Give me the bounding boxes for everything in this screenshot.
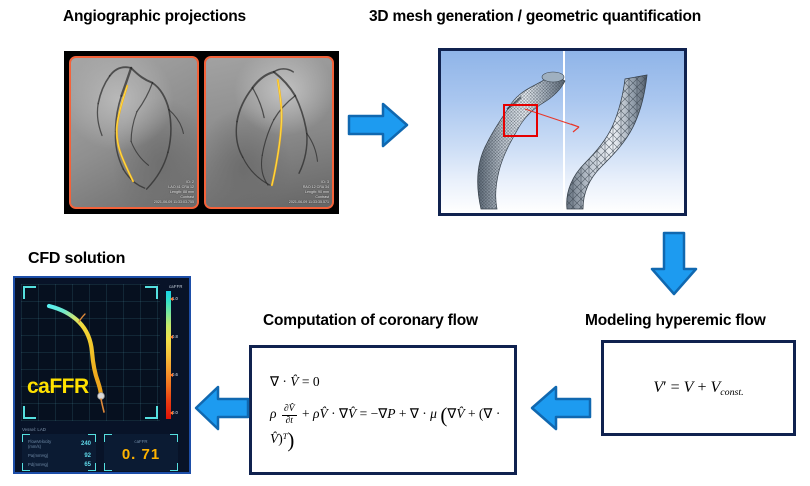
momentum-equation: ρ ∂V̂∂t + ρV̂ · ∇V̂ = −∇P + ∇ · μ (∇V̂ +… (270, 403, 514, 453)
caffr-vessel-centerline (21, 284, 160, 421)
hyperemic-flow-title: Modeling hyperemic flow (585, 312, 766, 330)
coronary-flow-equation-box: ∇ · V̂ = 0 ρ ∂V̂∂t + ρV̂ · ∇V̂ = −∇P + ∇… (249, 345, 517, 475)
workflow-diagram: Angiographic projections 3D mesh generat… (0, 0, 810, 486)
caffr-colorbar: caFFR 1.0 0.8 0.6 0.0 (165, 284, 191, 421)
angiographic-projections-panel: ID: 2 LAO 41 CRA 12 Length: 88 mm Contra… (64, 51, 339, 214)
angiogram-metadata-2: ID: 3 RAO 12 CRA 34 Length: 90 mm Contra… (289, 180, 329, 205)
metric-value-pa: 92 (84, 453, 91, 459)
hyperemic-flow-equation-box: V′ = V + Vconst. (601, 340, 796, 436)
metric-unit-text-0: (mm/s) (28, 444, 41, 449)
caffr-corner-br (170, 463, 178, 471)
angiogram-view-2[interactable]: ID: 3 RAO 12 CRA 34 Length: 90 mm Contra… (204, 56, 334, 209)
arrow-hyperemic-to-coronary (530, 383, 592, 433)
arrow-coronary-to-cfd (194, 383, 250, 433)
metric-value-pd: 65 (84, 462, 91, 468)
mesh-title: 3D mesh generation / geometric quantific… (369, 8, 701, 26)
angiogram-view-1[interactable]: ID: 2 LAO 41 CRA 12 Length: 88 mm Contra… (69, 56, 199, 209)
region-of-interest-box (503, 104, 538, 137)
metric-key-pa: Pa(mmHg) (28, 453, 48, 458)
colorbar-gradient (166, 291, 171, 419)
colorbar-tick-0: 1.0 (172, 296, 178, 301)
viewport-corner-br (145, 406, 158, 419)
viewport-corner-tr (145, 286, 158, 299)
metric-row-pa: Pa(mmHg) 92 (28, 453, 91, 459)
angiographic-title: Angiographic projections (63, 8, 246, 26)
caffr-watermark: caFFR (27, 375, 89, 399)
cfd-solution-panel[interactable]: caFFR caFFR 1.0 0.8 0.6 0.0 Vessel: LAD (13, 276, 191, 474)
hemodynamic-metrics-box: FlowVelocity (mm/s) 240 Pa(mmHg) 92 Pd(m… (22, 434, 96, 471)
vessel-name-label: Vessel: LAD (22, 427, 46, 432)
colorbar-tick-3: 0.0 (172, 410, 178, 415)
metric-row-flow-velocity: FlowVelocity (mm/s) 240 (28, 439, 91, 450)
coronary-flow-title: Computation of coronary flow (263, 312, 478, 330)
colorbar-title: caFFR (169, 284, 183, 289)
viewport-corner-tl (23, 286, 36, 299)
arrow-angio-to-mesh (347, 100, 409, 150)
metric-row-pd: Pd(mmHg) 65 (28, 462, 91, 468)
hyperemic-equation: V′ = V + Vconst. (653, 379, 743, 398)
metric-value-flow-velocity: 240 (81, 441, 91, 447)
metric-key-flow-velocity: FlowVelocity (mm/s) (28, 439, 51, 450)
metric-key-pd: Pd(mmHg) (28, 462, 48, 467)
metric-key-text-0: FlowVelocity (28, 439, 51, 444)
angio-timestamp-1: 2021-06-09 11:33:03.755 (154, 200, 194, 205)
continuity-equation: ∇ · V̂ = 0 (270, 374, 320, 390)
caffr-corner-bl (104, 463, 112, 471)
caffr-result-box: caFFR 0. 71 (104, 434, 178, 471)
mesh-generation-panel[interactable] (438, 48, 687, 216)
angio-timestamp-2: 2021-06-09 11:33:35.571 (289, 200, 329, 205)
caffr-result-value: 0. 71 (104, 446, 178, 463)
viewport-corner-bl (23, 406, 36, 419)
caffr-result-label: caFFR (104, 439, 178, 444)
cfd-measurements: Vessel: LAD FlowVelocity (mm/s) 240 Pa(m… (21, 428, 187, 472)
angiogram-metadata-1: ID: 2 LAO 41 CRA 12 Length: 88 mm Contra… (154, 180, 194, 205)
colorbar-tick-1: 0.8 (172, 334, 178, 339)
arrow-mesh-to-hyperemic (648, 231, 700, 297)
cfd-title: CFD solution (28, 250, 125, 268)
vessel-mesh-render (441, 51, 684, 213)
cfd-viewport[interactable]: caFFR (21, 284, 160, 421)
colorbar-tick-2: 0.6 (172, 372, 178, 377)
